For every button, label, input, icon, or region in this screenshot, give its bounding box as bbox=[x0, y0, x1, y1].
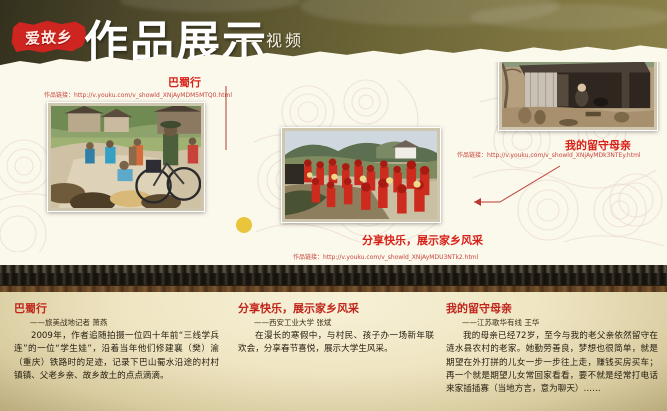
description-panel: 巴蜀行 ——旅美战地记者 萧燕 2009年，作者追随拍摄一位四十年前“三线学兵连… bbox=[0, 292, 667, 411]
column-body: 2009年，作者追随拍摄一位四十年前“三线学兵连”的一位“学生娃”，沿着当年他们… bbox=[14, 330, 219, 383]
showcase-area: 巴蜀行 作品链接：http://v.youku.com/v_showld_XNj… bbox=[0, 62, 667, 267]
column-byline: ——西安工业大学 张斌 bbox=[254, 317, 434, 328]
poster-page: 爱故乡 作品展示 视频 bbox=[0, 0, 667, 411]
header-brush-wisp bbox=[470, 4, 667, 30]
header-banner: 爱故乡 作品展示 视频 bbox=[0, 0, 667, 68]
description-column-fenxiangkuaile: 分享快乐，展示家乡风采 ——西安工业大学 张斌 在漫长的寒假中，与村民、孩子办一… bbox=[238, 300, 434, 357]
description-column-liushoumuqin: 我的留守母亲 ——江苏歌华有线 王华 我的母亲已经72岁，至今与我的老父亲依然留… bbox=[446, 300, 658, 397]
column-body: 在漫长的寒假中，与村民、孩子办一场新年联欢会，分享春节喜悦，展示大学生风采。 bbox=[238, 330, 434, 357]
column-title: 分享快乐，展示家乡风采 bbox=[238, 300, 434, 316]
column-title: 巴蜀行 bbox=[14, 300, 219, 316]
title-divider-rule bbox=[236, 40, 262, 42]
column-byline: ——江苏歌华有线 王华 bbox=[462, 317, 658, 328]
column-body: 我的母亲已经72岁，至今与我的老父亲依然留守在涟水县农村的老家。她勤劳善良，梦想… bbox=[446, 330, 658, 397]
column-title: 我的留守母亲 bbox=[446, 300, 658, 316]
description-column-bashuxing: 巴蜀行 ——旅美战地记者 萧燕 2009年，作者追随拍摄一位四十年前“三线学兵连… bbox=[14, 300, 219, 383]
logo-seal[interactable]: 爱故乡 bbox=[10, 20, 88, 54]
page-subtitle: 视频 bbox=[266, 27, 304, 51]
column-byline: ——旅美战地记者 萧燕 bbox=[30, 317, 219, 328]
connector-lines bbox=[0, 62, 667, 267]
roof-tiles bbox=[0, 265, 667, 287]
roof-beam bbox=[0, 285, 667, 292]
logo-seal-label: 爱故乡 bbox=[25, 26, 74, 49]
roof-tile-divider bbox=[0, 265, 667, 295]
